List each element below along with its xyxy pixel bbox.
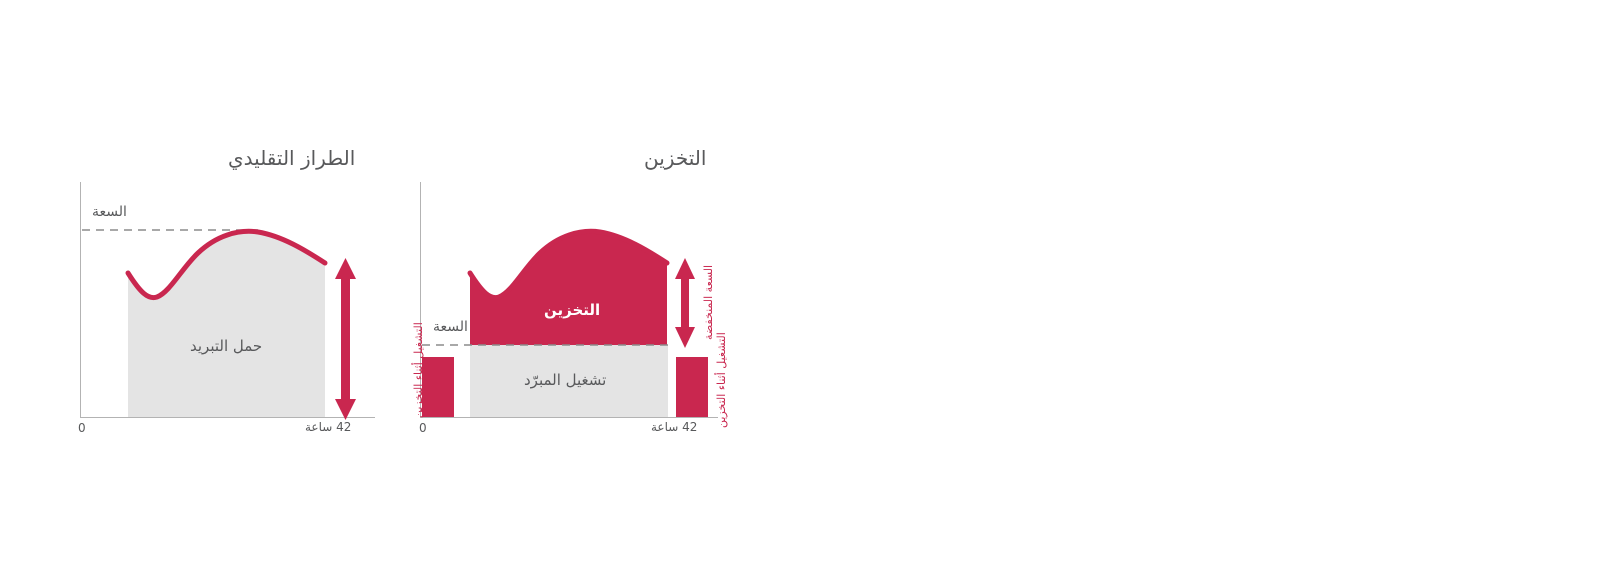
x-tick-start-storage: 0 [419,421,427,435]
figure-canvas: الطراز التقليدي السعة حمل التبريد 0 24 س… [0,0,1600,581]
x-tick-start-traditional: 0 [78,421,86,435]
x-tick-end-storage: 24 ساعة [651,420,697,434]
capacity-span-arrow-traditional [0,0,400,581]
x-tick-end-traditional: 24 ساعة [305,420,351,434]
vertical-label-operation-during-storage-right: التشغيل أثناء التخزين [715,332,728,428]
chart-panel-traditional: الطراز التقليدي السعة حمل التبريد 0 24 س… [0,0,400,581]
chart-panel-storage: التخزين السعة التخزين تشغيل المبرّد [400,0,760,581]
vertical-label-reduced-capacity: السعة المنخفضة [702,265,715,340]
vertical-label-operation-during-storage-left: التشغيل أثناء التخزين [412,322,425,418]
